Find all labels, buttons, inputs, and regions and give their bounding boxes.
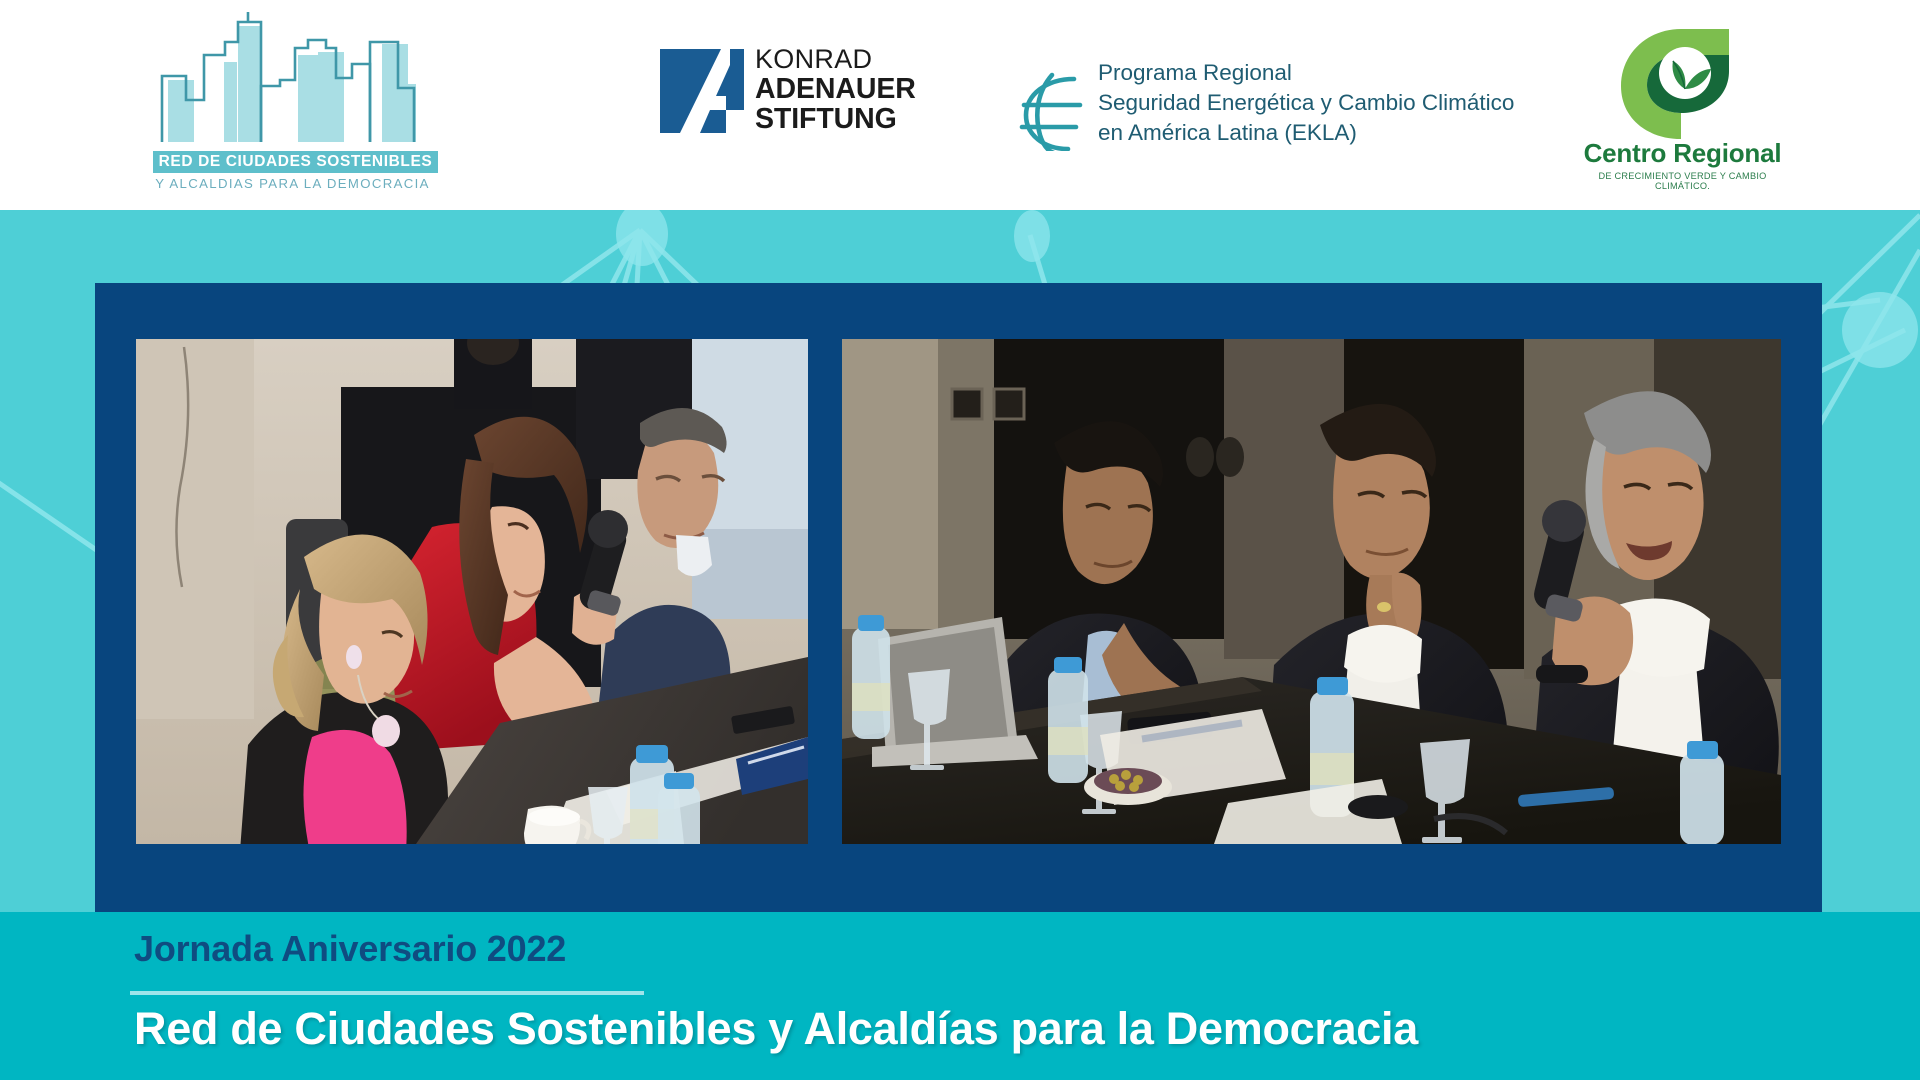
city-skyline-icon [130, 8, 455, 148]
logo-rcs-band: RED DE CIUDADES SOSTENIBLES [153, 151, 438, 173]
ekla-globe-icon [1018, 65, 1092, 151]
ekla-line-3: en América Latina (EKLA) [1098, 118, 1514, 148]
photo-gallery [136, 339, 1781, 844]
event-kicker: Jornada Aniversario 2022 [134, 928, 566, 970]
panel-photo-right [842, 339, 1781, 844]
logo-rcs-band-text: RED DE CIUDADES SOSTENIBLES [153, 151, 438, 173]
photo-frame [95, 283, 1822, 912]
kas-line-stiftung: STIFTUNG [755, 104, 916, 134]
green-c-leaves-icon [1611, 25, 1751, 143]
logo-row: RED DE CIUDADES SOSTENIBLES Y ALCALDIAS … [0, 0, 1920, 210]
panel-photo-left [136, 339, 808, 844]
ekla-line-2: Seguridad Energética y Cambio Climático [1098, 88, 1514, 118]
logo-rcs-subtitle: Y ALCALDIAS PARA LA DEMOCRACIA [130, 176, 455, 191]
ekla-wordmark: Programa Regional Seguridad Energética y… [1098, 58, 1514, 148]
kas-a-mark-icon [660, 49, 744, 133]
title-divider [130, 991, 644, 995]
logo-ekla-programa-regional: Programa Regional Seguridad Energética y… [1018, 48, 1538, 158]
logo-konrad-adenauer-stiftung: KONRAD ADENAUER STIFTUNG [660, 45, 960, 155]
logo-red-ciudades-sostenibles: RED DE CIUDADES SOSTENIBLES Y ALCALDIAS … [130, 8, 455, 198]
logo-centro-regional: Centro Regional DE CRECIMIENTO VERDE Y C… [1575, 25, 1790, 185]
kas-line-konrad: KONRAD [755, 45, 916, 74]
kas-line-adenauer: ADENAUER [755, 74, 916, 104]
ekla-line-1: Programa Regional [1098, 58, 1514, 88]
title-band: Jornada Aniversario 2022 Red de Ciudades… [0, 912, 1920, 1080]
presentation-slide: RED DE CIUDADES SOSTENIBLES Y ALCALDIAS … [0, 0, 1920, 1080]
page-title: Red de Ciudades Sostenibles y Alcaldías … [134, 1003, 1418, 1055]
centro-regional-name: Centro Regional [1575, 138, 1790, 169]
logo-header-bar: RED DE CIUDADES SOSTENIBLES Y ALCALDIAS … [0, 0, 1920, 210]
centro-regional-tagline: DE CRECIMIENTO VERDE Y CAMBIO CLIMÁTICO. [1575, 171, 1790, 191]
kas-wordmark: KONRAD ADENAUER STIFTUNG [755, 45, 916, 134]
